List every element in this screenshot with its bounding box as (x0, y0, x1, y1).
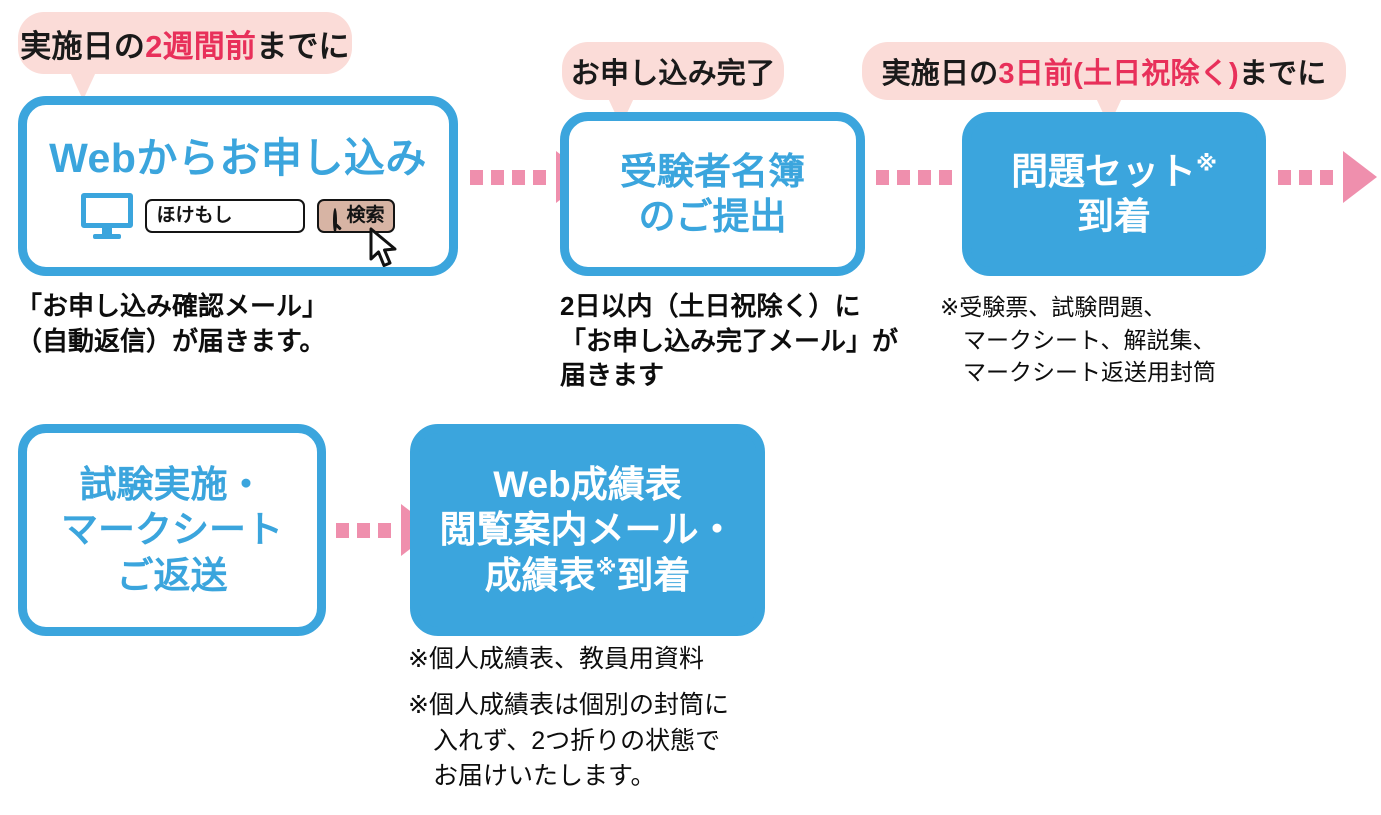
step-box-examinee-list[interactable]: 受験者名簿 のご提出 (560, 112, 865, 276)
step-heading: Webからお申し込み (49, 133, 427, 183)
step-line-3-text-b: 到着 (616, 555, 690, 596)
search-input[interactable]: ほけもし (145, 199, 305, 233)
arrow-connector-3 (1278, 164, 1377, 190)
step-box-question-set[interactable]: 問題セット※ 到着 (962, 112, 1266, 276)
flowchart-canvas: 実施日の2週間前までに お申し込み完了 実施日の3日前(土日祝除く)までに We… (0, 0, 1381, 815)
callout-text-suffix: までに (256, 21, 350, 66)
callout-text-suffix: までに (1239, 50, 1327, 92)
step-line-1-text: 問題セット (1011, 151, 1196, 192)
callout-text-prefix: 実施日の (882, 50, 999, 92)
step-line-3: ご返送 (117, 553, 228, 598)
step-line-3: 成績表※到着 (485, 553, 691, 598)
callout-text-highlight: 2週間前 (145, 21, 256, 66)
step-line-2: 到着 (1077, 194, 1151, 239)
callout-three-days-before: 実施日の3日前(土日祝除く)までに (862, 42, 1346, 100)
search-input-value: ほけもし (156, 204, 232, 227)
search-button-label: 検索 (346, 204, 384, 227)
search-icon (327, 209, 342, 224)
step-box-exam-return[interactable]: 試験実施・ マークシート ご返送 (18, 424, 326, 636)
note-results-delivery: ※個人成績表は個別の封筒に 入れず、2つ折りの状態で お届けいたします。 (408, 688, 729, 795)
note-completion-mail: 2日以内（土日祝除く）に 「お申し込み完了メール」が 届きます (560, 289, 898, 393)
note-confirmation-mail: 「お申し込み確認メール」 （自動返信）が届きます。 (16, 289, 328, 358)
footnote-marker: ※ (596, 555, 617, 579)
step-line-1: 受験者名簿 (620, 149, 805, 194)
step-line-1: Web成績表 (493, 462, 681, 507)
step-line-2: のご提出 (639, 194, 787, 239)
callout-two-weeks-before: 実施日の2週間前までに (18, 12, 352, 74)
step-box-web-application[interactable]: Webからお申し込み ほけもし 検索 (18, 96, 458, 276)
step-line-3-text: 成績表 (485, 555, 596, 596)
mouse-cursor-icon (367, 227, 401, 269)
step-line-1: 試験実施・ (80, 462, 265, 507)
step-line-2: マークシート (61, 507, 283, 552)
footnote-marker: ※ (1196, 152, 1217, 176)
callout-text-prefix: お申し込み完了 (571, 50, 775, 92)
note-question-set-contents: ※受験票、試験問題、 マークシート、解説集、 マークシート返送用封筒 (940, 291, 1216, 389)
callout-application-complete: お申し込み完了 (562, 42, 784, 100)
monitor-icon (81, 193, 133, 239)
step-line-2: 閲覧案内メール・ (440, 507, 736, 552)
callout-text-prefix: 実施日の (20, 21, 145, 66)
note-results-contents: ※個人成績表、教員用資料 (408, 643, 704, 676)
step-line-1: 問題セット※ (1011, 149, 1217, 194)
search-button[interactable]: 検索 (317, 199, 394, 233)
callout-text-highlight: 3日前(土日祝除く) (998, 50, 1238, 92)
step-box-web-results[interactable]: Web成績表 閲覧案内メール・ 成績表※到着 (410, 424, 765, 636)
search-widget: ほけもし 検索 (81, 193, 394, 239)
